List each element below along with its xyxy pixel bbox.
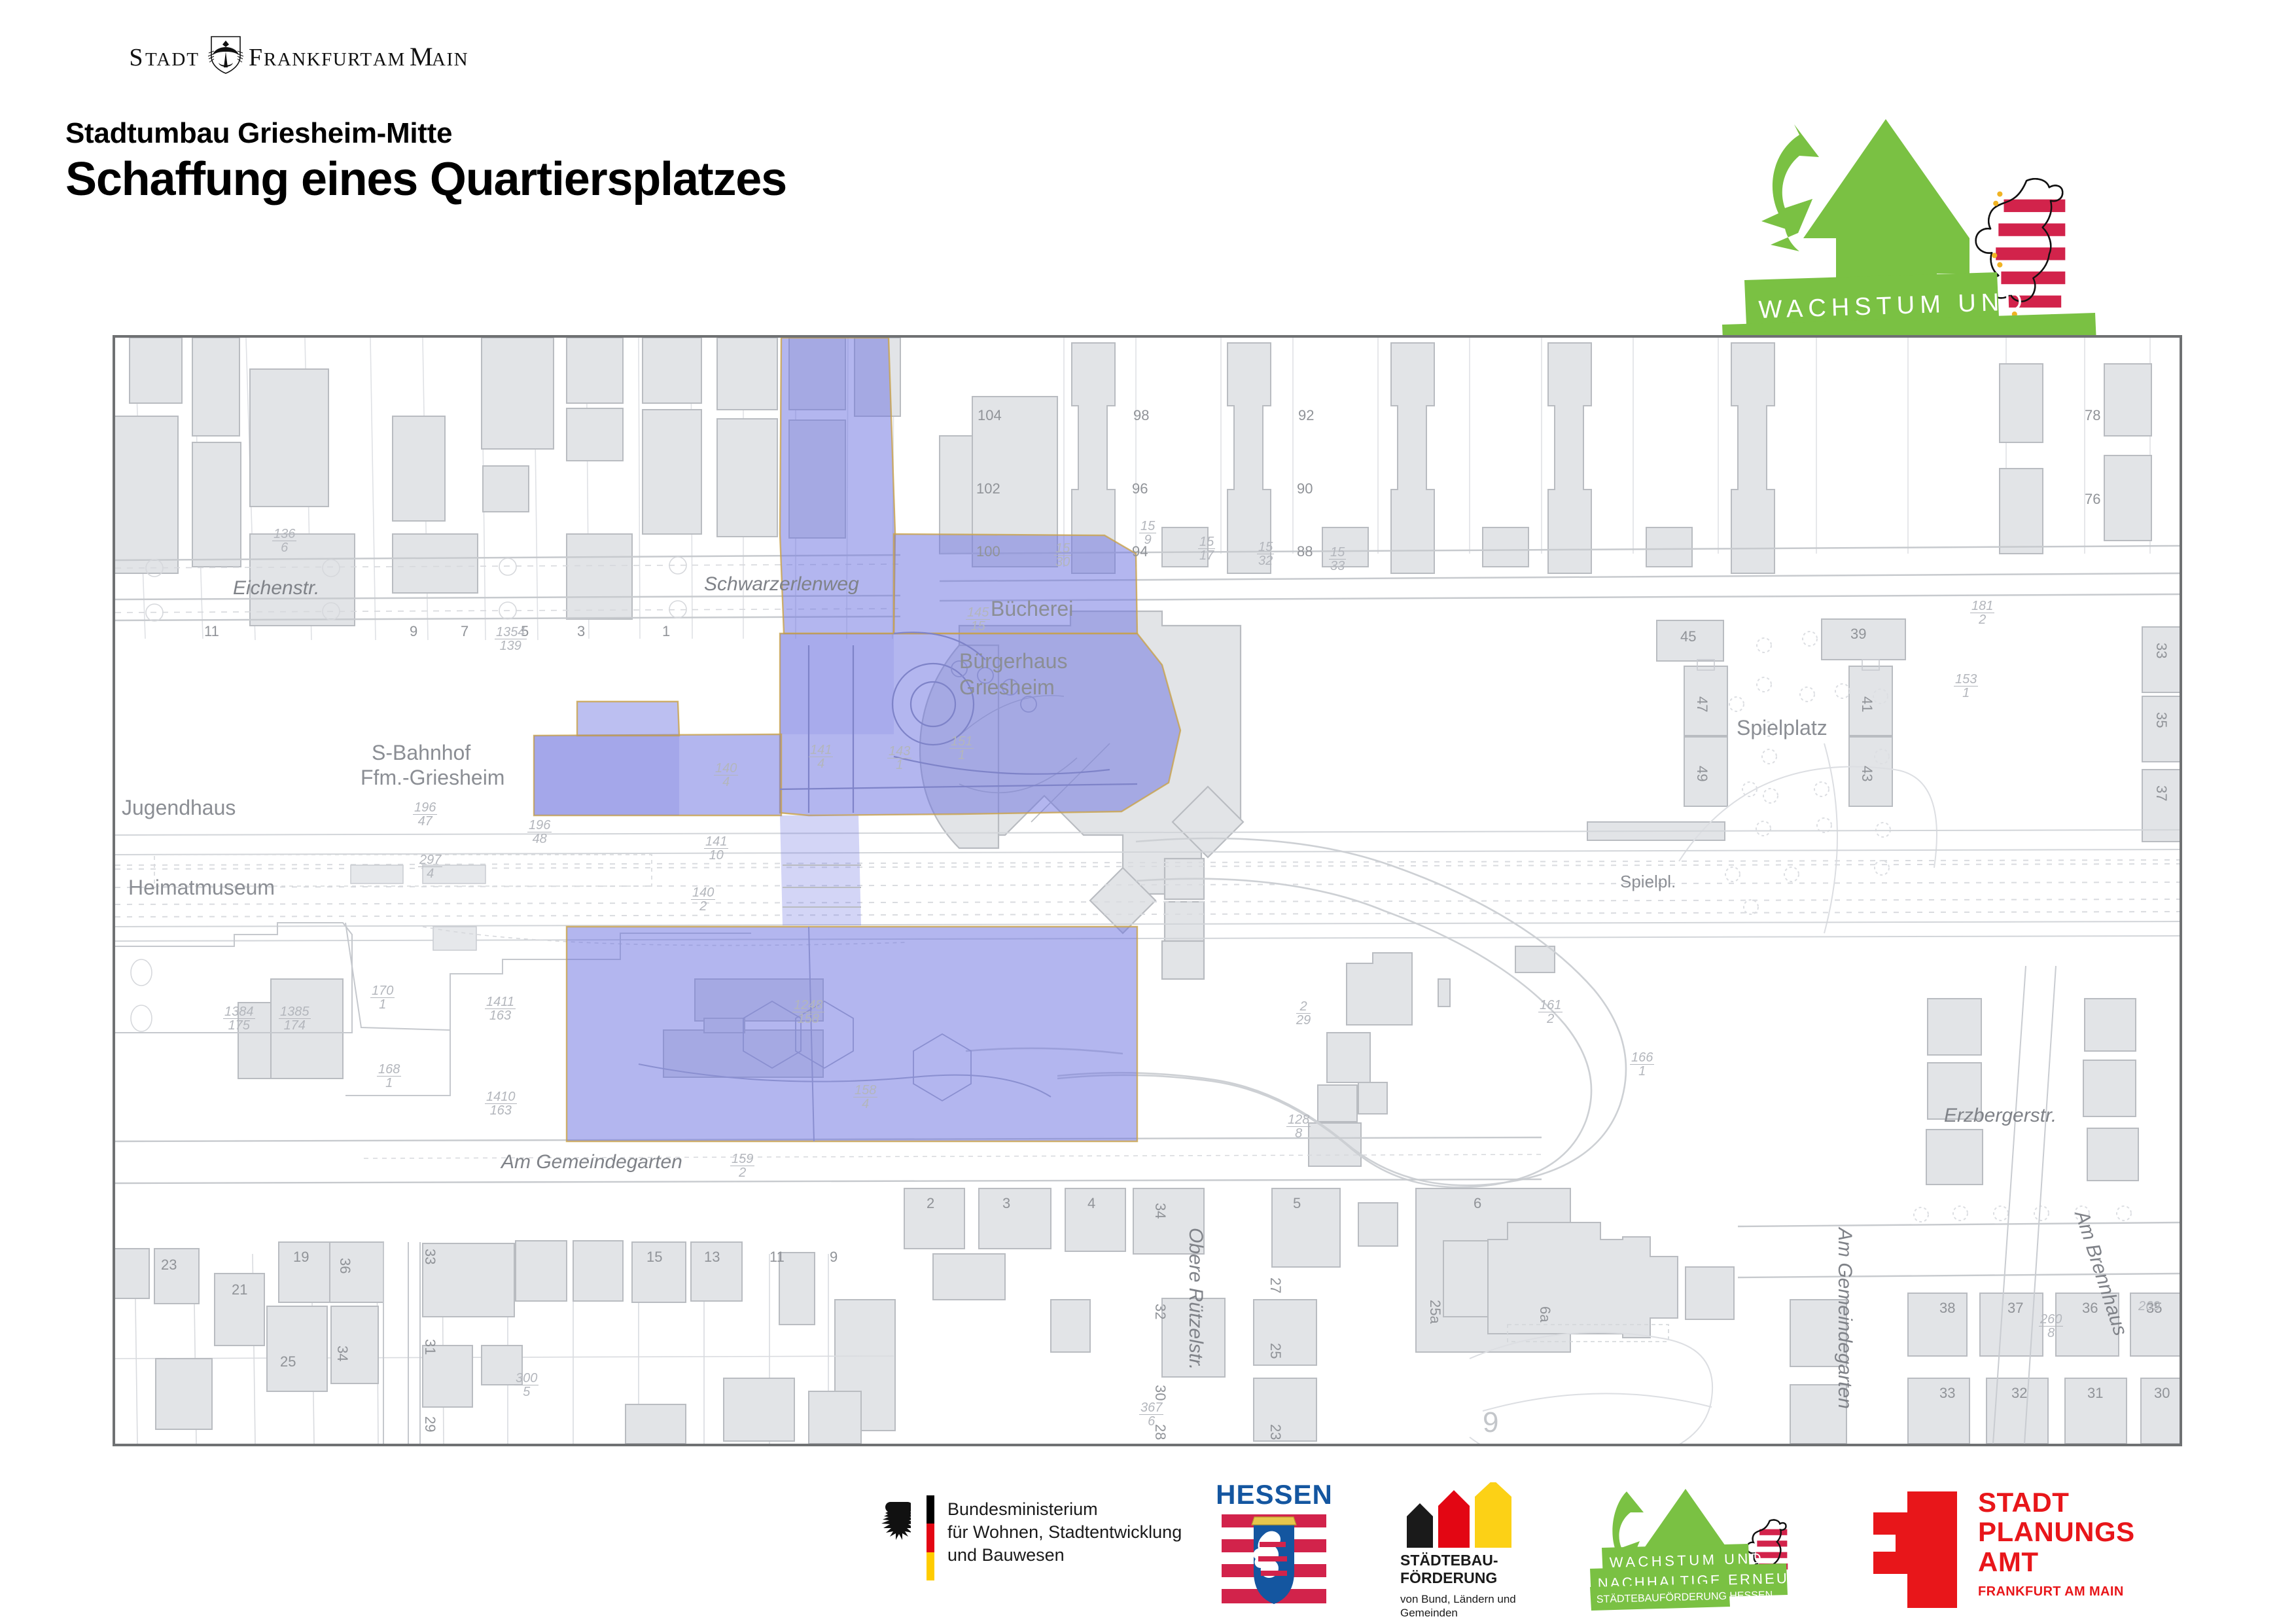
parcel-fraction: 3005 (514, 1372, 539, 1399)
house-number: 9 (410, 623, 417, 640)
house-number: 11 (769, 1249, 785, 1266)
house-number: 36 (2082, 1300, 2098, 1317)
parcel-fraction: 1402 (691, 886, 715, 913)
house-number: 100 (976, 543, 1000, 560)
page-title: Schaffung eines Quartiersplatzes (65, 153, 786, 206)
house-number: 32 (1152, 1304, 1169, 1319)
hessen-coat-of-arms-icon (1214, 1510, 1335, 1609)
house-number: 92 (1298, 407, 1314, 424)
bmwsb-line-1: Bundesministerium (947, 1498, 1182, 1521)
parcel-fraction: 1385174 (279, 1005, 311, 1032)
parcel-fraction: 1612 (1538, 999, 1563, 1026)
logo-bundesministerium: Bundesministerium für Wohnen, Stadtentwi… (870, 1489, 1210, 1587)
parcel-fraction: 1411163 (485, 995, 516, 1022)
svg-text:TADT: TADT (145, 49, 200, 70)
house-number: 15 (646, 1249, 662, 1266)
house-number: 35 (2153, 712, 2170, 728)
svg-text:AIN: AIN (432, 49, 468, 70)
house-number: 31 (421, 1339, 438, 1355)
parcel-fraction: 1530 (1054, 542, 1071, 569)
svg-text:RANKFURT: RANKFURT (264, 49, 373, 70)
house-number: 34 (334, 1346, 351, 1361)
spa-line-3: AMT (1978, 1547, 2135, 1577)
house-number: 25a (1426, 1300, 1443, 1324)
map-marker-9: 9 (1483, 1406, 1498, 1438)
house-number: 33 (1939, 1385, 1955, 1402)
house-number: 3 (1002, 1195, 1010, 1212)
staedtebau-line-2: FÖRDERUNG (1400, 1569, 1498, 1587)
house-number: 29 (421, 1416, 438, 1432)
parcel-fraction: 1531 (1954, 673, 1978, 700)
parcel-fraction: 19648 (527, 819, 552, 846)
cadastral-map[interactable]: 9 Eichenstr. Schwarzerlenweg Am Gemeinde… (113, 335, 2182, 1446)
growth-arrow-icon (1803, 119, 1969, 280)
svg-text:AM: AM (373, 49, 406, 70)
parcel-fraction: 19647 (413, 801, 437, 828)
house-number: 27 (1267, 1277, 1284, 1293)
three-houses-icon (1400, 1482, 1577, 1548)
parcel-fraction: 159 (1139, 520, 1156, 546)
house-number: 32 (2011, 1385, 2027, 1402)
spa-line-1: STADT (1978, 1488, 2135, 1517)
house-number: 5 (1293, 1195, 1301, 1212)
parcel-fraction: 1701 (370, 984, 395, 1011)
house-number: 37 (2153, 785, 2170, 801)
parcel-fraction: 14515 (966, 606, 990, 633)
house-number: 96 (1132, 480, 1148, 497)
house-number: 31 (2087, 1385, 2103, 1402)
german-flag-bar (927, 1495, 934, 1580)
parcel-fraction: 3676 (1139, 1401, 1163, 1428)
house-number: 3 (577, 623, 585, 640)
house-number: 38 (1939, 1300, 1955, 1317)
parcel-fraction: 1584 (853, 1084, 877, 1111)
parcel-fraction: 229 (1296, 1000, 1311, 1027)
logo-hessen: HESSEN (1214, 1479, 1335, 1613)
house-number: 13 (704, 1249, 720, 1266)
spa-subtitle: FRANKFURT AM MAIN (1978, 1584, 2124, 1599)
house-number: 47 (1693, 696, 1710, 712)
project-subtitle: Stadtumbau Griesheim-Mitte (65, 118, 786, 149)
house-number: 25 (280, 1353, 296, 1370)
bmwsb-line-3: und Bauwesen (947, 1544, 1182, 1567)
house-number: 23 (1267, 1424, 1284, 1440)
parcel-fraction: 269 (2137, 1300, 2161, 1313)
house-number: 25 (1267, 1343, 1284, 1359)
house-number: 30 (1152, 1385, 1169, 1400)
house-number: 33 (421, 1249, 438, 1264)
house-number: 34 (1152, 1203, 1169, 1219)
stadtplanungsamt-mark-icon (1868, 1488, 1966, 1612)
bundesadler-icon (870, 1501, 911, 1545)
bmwsb-line-2: für Wohnen, Stadtentwicklung (947, 1521, 1182, 1544)
parcel-fraction: 1592 (730, 1152, 754, 1179)
frankfurt-eagle-icon (208, 37, 243, 73)
staedtebau-sub-1: von Bund, Ländern und (1400, 1592, 1516, 1606)
svg-text:M: M (410, 42, 433, 71)
house-number: 4 (1087, 1195, 1095, 1212)
logo-stadtplanungsamt: STADT PLANUNGS AMT FRANKFURT AM MAIN (1868, 1488, 2163, 1612)
spa-line-2: PLANUNGS (1978, 1517, 2135, 1546)
staedtebau-subtitle: von Bund, Ländern und Gemeinden (1400, 1592, 1516, 1620)
house-number: 36 (336, 1258, 353, 1274)
parcel-fraction: 1533 (1329, 546, 1346, 573)
house-number: 37 (2007, 1300, 2023, 1317)
map-canvas: 9 (115, 338, 2180, 1444)
parcel-fraction: 2608 (2039, 1313, 2063, 1340)
logo-staedtebaufoerderung: STÄDTEBAU- FÖRDERUNG von Bund, Ländern u… (1400, 1482, 1577, 1613)
house-number: 33 (2153, 643, 2170, 658)
house-number: 41 (1858, 696, 1875, 712)
house-number: 88 (1297, 543, 1313, 560)
logo-wachstum-footer: WACHSTUM UND NACHHALTIGE ERNEUERUNG STÄD… (1590, 1488, 1852, 1612)
title-block: Stadtumbau Griesheim-Mitte Schaffung ein… (65, 118, 786, 206)
parcel-fraction: 1366 (272, 527, 296, 554)
city-logo: S TADT F RANKFURT AM M AIN (97, 34, 516, 75)
parcel-fraction: 2974 (418, 853, 442, 880)
house-number: 11 (204, 623, 219, 640)
parcel-fraction: 1532 (1257, 541, 1274, 567)
parcel-fraction: 1404 (714, 762, 738, 789)
spa-label: STADT PLANUNGS AMT (1978, 1488, 2135, 1577)
house-number: 49 (1693, 766, 1710, 781)
house-number: 9 (830, 1249, 838, 1266)
parcel-fraction: 1681 (377, 1063, 401, 1090)
house-number: 78 (2085, 407, 2100, 424)
parcel-fraction: 1410163 (485, 1090, 517, 1117)
parcel-fraction: 1414 (809, 743, 833, 770)
svg-text:S: S (129, 44, 144, 71)
footer-logo-bar: Bundesministerium für Wohnen, Stadtentwi… (0, 1476, 2296, 1623)
parcel-fraction: 14110 (704, 835, 728, 862)
house-number: 90 (1297, 480, 1313, 497)
house-number: 76 (2085, 491, 2100, 508)
house-number: 2 (927, 1195, 934, 1212)
parcel-fraction: 1511 (949, 735, 974, 762)
house-number: 104 (978, 407, 1002, 424)
staedtebau-line-1: STÄDTEBAU- (1400, 1552, 1498, 1569)
house-number: 39 (1850, 626, 1866, 643)
house-number: 6a (1536, 1306, 1553, 1322)
parcel-fraction: 1661 (1630, 1051, 1654, 1078)
house-number: 21 (232, 1281, 247, 1298)
parcel-fraction: 1248158 (792, 999, 824, 1026)
house-number: 43 (1858, 766, 1875, 781)
parcel-fraction: 1354139 (495, 626, 527, 652)
parcel-fraction: 1384175 (223, 1005, 255, 1032)
house-number: 19 (293, 1249, 309, 1266)
parcel-fraction: 1431 (887, 745, 911, 772)
house-number: 1 (662, 623, 670, 640)
staedtebau-sub-2: Gemeinden (1400, 1606, 1516, 1620)
hessen-label: HESSEN (1214, 1479, 1335, 1510)
house-number: 30 (2154, 1385, 2170, 1402)
staedtebau-label: STÄDTEBAU- FÖRDERUNG (1400, 1552, 1498, 1587)
house-number: 6 (1474, 1195, 1481, 1212)
parcel-fraction: 1288 (1286, 1113, 1311, 1140)
house-number: 23 (161, 1257, 177, 1274)
house-number: 7 (461, 623, 468, 640)
parcel-fraction: 1517 (1198, 535, 1215, 562)
parcel-fraction: 1812 (1970, 599, 1994, 626)
house-number: 45 (1680, 628, 1696, 645)
house-number: 98 (1133, 407, 1149, 424)
svg-text:F: F (249, 44, 262, 71)
bmwsb-label: Bundesministerium für Wohnen, Stadtentwi… (947, 1498, 1182, 1567)
house-number: 102 (976, 480, 1000, 497)
